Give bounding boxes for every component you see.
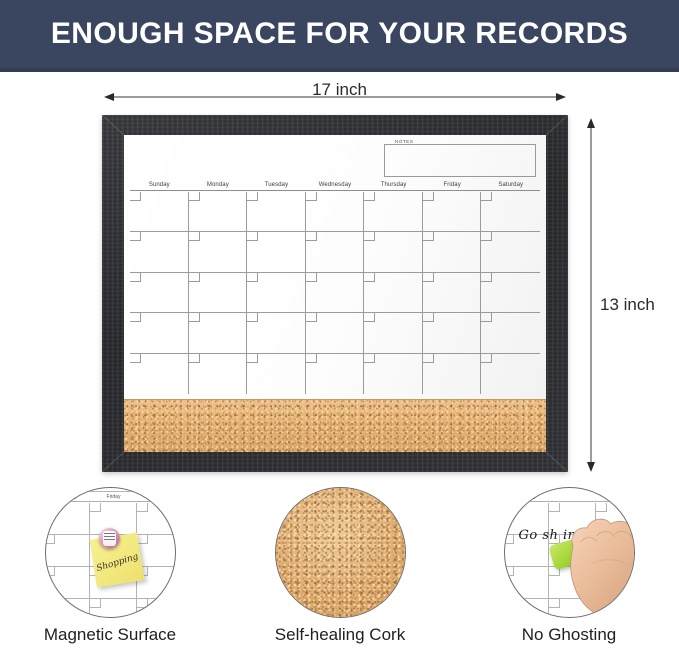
feature-3-label: No Ghosting: [459, 625, 679, 645]
mini-calendar-cell: [504, 599, 550, 618]
mini-weekday-saturday-1: Saturday: [137, 494, 176, 501]
mini-date-number-box: [45, 503, 55, 512]
calendar-day-cell[interactable]: [306, 273, 365, 313]
height-dimension-label: 13 inch: [600, 295, 655, 315]
calendar-day-cell[interactable]: [189, 313, 248, 353]
cork-strip[interactable]: [124, 399, 546, 452]
weekday-sunday: Sunday: [130, 182, 189, 190]
feature-2-circle: [275, 487, 406, 618]
mini-date-number-box: [504, 599, 514, 608]
feature-row: Thursday Friday Saturday Shopping Magnet…: [0, 487, 679, 660]
mini-date-number-box: [549, 599, 560, 608]
mini-calendar-cell: [137, 599, 176, 618]
weekday-friday: Friday: [423, 182, 482, 190]
date-number-box: [481, 192, 492, 201]
date-number-box: [247, 232, 258, 241]
date-number-box: [364, 192, 375, 201]
mini-calendar-cell: [504, 567, 550, 599]
date-number-box: [481, 313, 492, 322]
calendar-day-cell[interactable]: [481, 273, 540, 313]
magnet-icon[interactable]: [99, 528, 120, 549]
date-number-box: [189, 273, 200, 282]
board-inner-surface: NOTES Sunday Monday Tuesday Wednesday Th…: [124, 135, 546, 452]
date-number-box: [364, 273, 375, 282]
cork-swatch-icon: [276, 488, 405, 617]
mini-date-number-box: [549, 503, 560, 512]
mini-weekday-row-1: Thursday Friday Saturday: [45, 494, 176, 502]
date-number-box: [423, 273, 434, 282]
notes-label: NOTES: [392, 139, 417, 144]
date-number-box: [130, 354, 141, 363]
date-number-box: [481, 232, 492, 241]
height-dimension-arrow: [585, 118, 597, 472]
mini-weekday-thursday-3: Thursday: [504, 494, 550, 501]
weekday-tuesday: Tuesday: [247, 182, 306, 190]
calendar-day-cell[interactable]: [364, 273, 423, 313]
mini-calendar-cell: [137, 535, 176, 567]
date-number-box: [247, 354, 258, 363]
feature-magnetic-surface: Thursday Friday Saturday Shopping Magnet…: [0, 487, 220, 645]
hand-icon: [567, 512, 635, 618]
feature-2-label: Self-healing Cork: [230, 625, 450, 645]
calendar-day-cell[interactable]: [481, 313, 540, 353]
date-number-box: [189, 232, 200, 241]
calendar-day-cell[interactable]: [364, 232, 423, 272]
date-number-box: [306, 192, 317, 201]
width-dimension-arrow: [104, 91, 566, 103]
mini-weekday-friday-1: Friday: [90, 494, 137, 501]
mini-calendar-cell: [90, 599, 137, 618]
date-number-box: [306, 354, 317, 363]
mini-calendar-cell: [45, 567, 91, 599]
mini-date-number-box: [90, 503, 101, 512]
whiteboard-product: NOTES Sunday Monday Tuesday Wednesday Th…: [102, 115, 568, 472]
date-number-box: [306, 273, 317, 282]
calendar-day-cell[interactable]: [306, 313, 365, 353]
weekday-saturday: Saturday: [481, 182, 540, 190]
header-banner: ENOUGH SPACE FOR YOUR RECORDS: [0, 0, 679, 72]
date-number-box: [306, 232, 317, 241]
weekday-thursday: Thursday: [364, 182, 423, 190]
weekday-monday: Monday: [189, 182, 248, 190]
mini-date-number-box: [45, 535, 55, 544]
mini-date-number-box: [45, 567, 55, 576]
calendar-grid: [130, 192, 540, 394]
calendar-day-cell[interactable]: [247, 313, 306, 353]
mini-calendar-cell: [137, 503, 176, 535]
date-number-box: [247, 192, 258, 201]
mini-notes-box-1: [68, 487, 176, 492]
calendar-day-cell[interactable]: [481, 354, 540, 394]
mini-calendar-cell: [45, 503, 91, 535]
date-number-box: [481, 354, 492, 363]
date-number-box: [364, 232, 375, 241]
calendar-day-cell[interactable]: [481, 192, 540, 232]
calendar-day-cell[interactable]: [247, 354, 306, 394]
calendar-day-cell[interactable]: [189, 232, 248, 272]
date-number-box: [130, 192, 141, 201]
date-number-box: [481, 273, 492, 282]
mini-date-number-box: [504, 567, 514, 576]
feature-3-circle: Thursday Go sh in: [504, 487, 635, 618]
calendar-day-cell[interactable]: [423, 354, 482, 394]
feature-no-ghosting: Thursday Go sh in: [459, 487, 679, 645]
date-number-box: [423, 192, 434, 201]
calendar-day-cell[interactable]: [189, 354, 248, 394]
calendar-day-cell[interactable]: [189, 192, 248, 232]
mini-calendar-cell: [45, 599, 91, 618]
sticky-note-text: Shopping: [93, 551, 142, 575]
feature-self-healing-cork: Self-healing Cork: [230, 487, 450, 645]
calendar-day-cell[interactable]: [423, 273, 482, 313]
weekday-wednesday: Wednesday: [306, 182, 365, 190]
calendar-day-cell[interactable]: [247, 232, 306, 272]
calendar-day-cell[interactable]: [247, 192, 306, 232]
date-number-box: [423, 232, 434, 241]
date-number-box: [364, 354, 375, 363]
mini-weekday-thursday-1: Thursday: [45, 494, 91, 501]
date-number-box: [247, 313, 258, 322]
calendar-day-cell[interactable]: [306, 232, 365, 272]
calendar-day-cell[interactable]: [481, 232, 540, 272]
feature-1-circle: Thursday Friday Saturday Shopping: [45, 487, 176, 618]
calendar-day-cell[interactable]: [189, 273, 248, 313]
calendar-day-cell[interactable]: [130, 313, 189, 353]
date-number-box: [130, 273, 141, 282]
notes-box[interactable]: [384, 144, 536, 177]
date-number-box: [364, 313, 375, 322]
mini-date-number-box: [90, 599, 101, 608]
page-title: ENOUGH SPACE FOR YOUR RECORDS: [51, 17, 628, 51]
mini-date-number-box: [137, 599, 148, 608]
mini-date-number-box: [596, 503, 607, 512]
calendar-day-cell[interactable]: [130, 354, 189, 394]
calendar-day-cell[interactable]: [423, 192, 482, 232]
feature-1-label: Magnetic Surface: [0, 625, 220, 645]
date-number-box: [423, 313, 434, 322]
mini-date-number-box: [504, 503, 514, 512]
calendar-day-cell[interactable]: [423, 313, 482, 353]
date-number-box: [130, 313, 141, 322]
dry-erase-calendar[interactable]: NOTES Sunday Monday Tuesday Wednesday Th…: [124, 135, 546, 400]
calendar-day-cell[interactable]: [306, 354, 365, 394]
calendar-day-cell[interactable]: [247, 273, 306, 313]
calendar-day-cell[interactable]: [130, 192, 189, 232]
calendar-day-cell[interactable]: [130, 273, 189, 313]
date-number-box: [423, 354, 434, 363]
magnet-line-detail: [104, 533, 115, 544]
date-number-box: [247, 273, 258, 282]
calendar-day-cell[interactable]: [423, 232, 482, 272]
calendar-day-cell[interactable]: [130, 232, 189, 272]
date-number-box: [130, 232, 141, 241]
mini-calendar-cell: [45, 535, 91, 567]
date-number-box: [306, 313, 317, 322]
calendar-day-cell[interactable]: [364, 313, 423, 353]
calendar-day-cell[interactable]: [364, 192, 423, 232]
mini-date-number-box: [45, 599, 55, 608]
calendar-day-cell[interactable]: [364, 354, 423, 394]
weekday-header-row: Sunday Monday Tuesday Wednesday Thursday…: [130, 182, 540, 191]
calendar-day-cell[interactable]: [306, 192, 365, 232]
mini-weekday-row-3: Thursday: [504, 494, 635, 502]
date-number-box: [189, 354, 200, 363]
mini-date-number-box: [137, 503, 148, 512]
mini-date-number-box: [504, 535, 514, 544]
date-number-box: [189, 192, 200, 201]
date-number-box: [189, 313, 200, 322]
